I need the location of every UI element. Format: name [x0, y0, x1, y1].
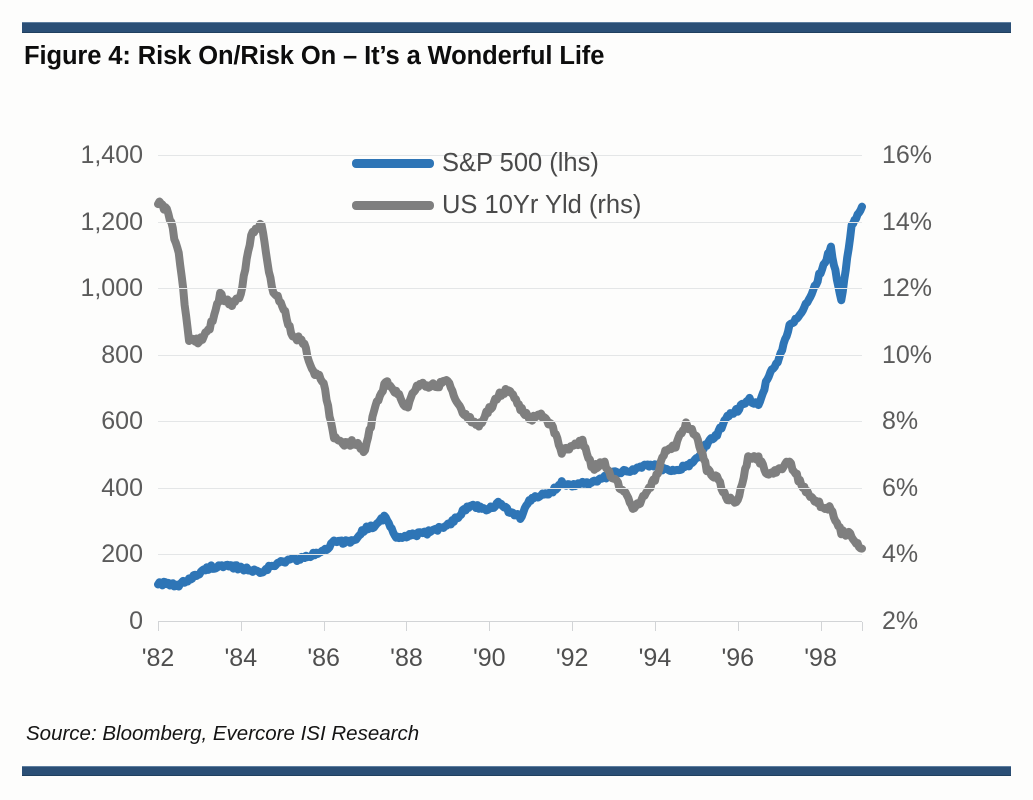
figure-container: Figure 4: Risk On/Risk On – It’s a Wonde… — [0, 0, 1033, 800]
y-axis-left-tick: 600 — [101, 409, 143, 434]
x-axis-tick-mark — [158, 622, 159, 631]
y-axis-left-labels: 1,4001,2001,0008006004002000 — [38, 155, 143, 622]
y-axis-right-labels: 16%14%12%10%8%6%4%2% — [882, 155, 992, 622]
legend-color-swatch — [352, 159, 434, 168]
gridline — [158, 488, 862, 489]
x-axis-tick-mark — [324, 622, 325, 631]
y-axis-right-tick: 6% — [882, 476, 918, 501]
x-axis-tick-label: '86 — [307, 646, 340, 671]
x-axis-tick-label: '94 — [639, 646, 672, 671]
chart-canvas: 1,4001,2001,0008006004002000 16%14%12%10… — [0, 120, 1033, 700]
x-axis-tick-label: '96 — [721, 646, 754, 671]
y-axis-left-tick: 0 — [129, 609, 143, 634]
x-axis-tick-label: '92 — [556, 646, 589, 671]
x-axis-tick-mark — [821, 622, 822, 631]
chart-legend: S&P 500 (lhs)US 10Yr Yld (rhs) — [352, 142, 692, 226]
x-axis-labels: '82'84'86'88'90'92'94'96'98 — [158, 632, 862, 672]
y-axis-right-tick: 14% — [882, 210, 932, 235]
x-axis-tick-label: '98 — [804, 646, 837, 671]
y-axis-left-tick: 1,200 — [80, 210, 143, 235]
y-axis-left-tick: 200 — [101, 542, 143, 567]
legend-item-label: S&P 500 (lhs) — [442, 149, 599, 178]
legend-color-swatch — [352, 201, 434, 210]
x-axis-tick-label: '90 — [473, 646, 506, 671]
legend-item[interactable]: US 10Yr Yld (rhs) — [352, 184, 692, 226]
y-axis-right-tick: 10% — [882, 343, 932, 368]
x-axis-tick-mark — [406, 622, 407, 631]
page-title: Figure 4: Risk On/Risk On – It’s a Wonde… — [24, 42, 604, 71]
x-axis-tick-mark — [738, 622, 739, 631]
gridline — [158, 421, 862, 422]
x-axis-tick-mark — [572, 622, 573, 631]
source-note: Source: Bloomberg, Evercore ISI Research — [26, 722, 419, 746]
y-axis-right-tick: 12% — [882, 276, 932, 301]
y-axis-right-tick: 16% — [882, 143, 932, 168]
x-axis-tick-mark — [241, 622, 242, 631]
x-axis-line — [158, 621, 862, 622]
y-axis-left-tick: 1,400 — [80, 143, 143, 168]
series-line-us10yr — [158, 202, 862, 549]
y-axis-right-tick: 4% — [882, 542, 918, 567]
legend-item[interactable]: S&P 500 (lhs) — [352, 142, 692, 184]
y-axis-right-tick: 8% — [882, 409, 918, 434]
x-axis-tick-label: '84 — [225, 646, 258, 671]
y-axis-left-tick: 1,000 — [80, 276, 143, 301]
y-axis-right-tick: 2% — [882, 609, 918, 634]
x-axis-tick-mark — [655, 622, 656, 631]
gridline — [158, 554, 862, 555]
x-axis-tick-mark — [489, 622, 490, 631]
y-axis-left-tick: 400 — [101, 476, 143, 501]
bottom-rule-divider — [22, 766, 1011, 776]
y-axis-left-tick: 800 — [101, 343, 143, 368]
x-axis-tick-mark — [862, 622, 863, 631]
x-axis-tick-label: '88 — [390, 646, 423, 671]
gridline — [158, 288, 862, 289]
gridline — [158, 355, 862, 356]
top-rule-divider — [22, 22, 1011, 33]
legend-item-label: US 10Yr Yld (rhs) — [442, 191, 641, 220]
x-axis-tick-label: '82 — [142, 646, 175, 671]
